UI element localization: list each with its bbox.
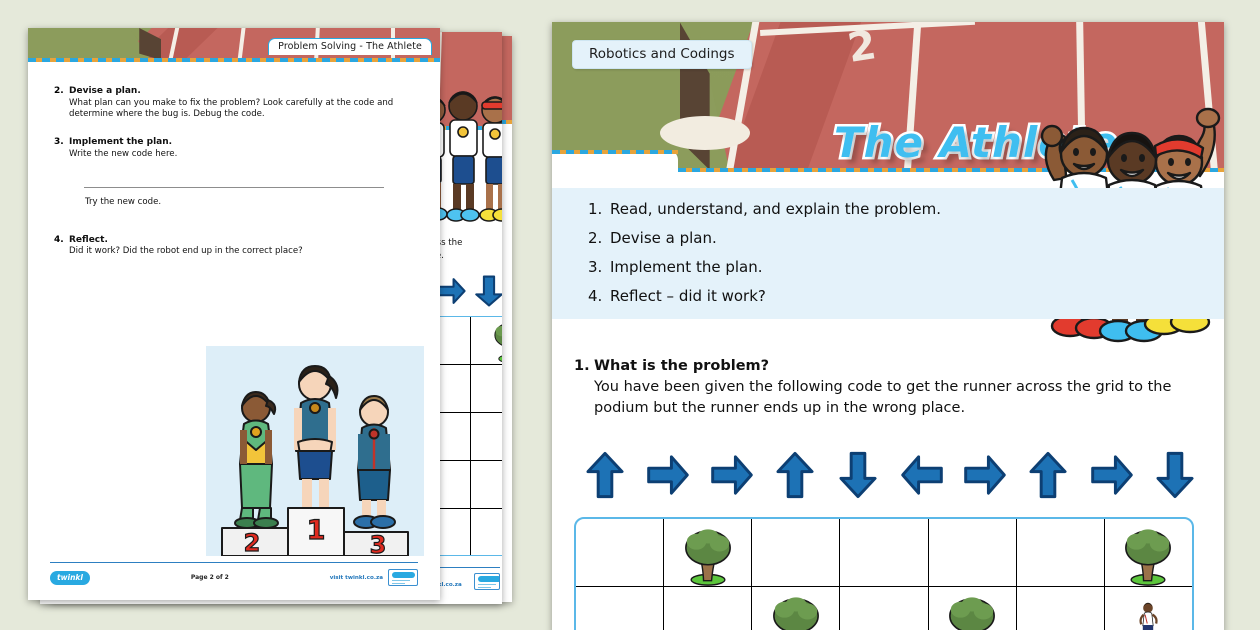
- left-step-2-body: What plan can you make to fix the proble…: [69, 98, 414, 122]
- podium-place-1: 1: [307, 515, 326, 546]
- step-1-number: 1.: [588, 200, 610, 218]
- grid-cell-r1c6[interactable]: [1017, 519, 1105, 586]
- right-page-sheet[interactable]: 2 Robotics and Codings The Athlete: [552, 22, 1224, 630]
- left-step-3-number: 3.: [54, 137, 69, 160]
- steps-panel: 1. Read, understand, and explain the pro…: [552, 188, 1224, 319]
- step-3-label: Implement the plan.: [610, 258, 763, 276]
- problem-number: 1.: [574, 358, 594, 374]
- step-3-number: 3.: [588, 258, 610, 276]
- grid-cell-r2c1[interactable]: [576, 587, 664, 630]
- page-title: The Athlete: [834, 118, 1118, 167]
- left-step-3-heading: Implement the plan.: [69, 137, 177, 147]
- left-step-2: 2. Devise a plan. What plan can you make…: [54, 86, 414, 121]
- left-page-content: 2. Devise a plan. What plan can you make…: [28, 86, 440, 269]
- grid-row-1: [576, 519, 1192, 587]
- twinkl-badge-back: [474, 573, 500, 590]
- visit-url[interactable]: visit twinkl.co.za: [330, 575, 383, 581]
- answer-write-line: [84, 187, 384, 188]
- podium-illustration: 2 1 3: [206, 346, 424, 556]
- problem-heading: What is the problem?: [594, 358, 769, 374]
- grid-cell-r2c4[interactable]: [840, 587, 928, 630]
- left-step-4-heading: Reflect.: [69, 235, 303, 245]
- left-step-4-body: Did it work? Did the robot end up in the…: [69, 246, 303, 258]
- coding-grid[interactable]: [574, 517, 1194, 630]
- tree-icon: [768, 592, 824, 630]
- left-step-3-body: Write the new code here.: [69, 149, 177, 161]
- page-number: Page 2 of 2: [191, 574, 229, 581]
- step-4-number: 4.: [588, 287, 610, 305]
- runner-icon: [1136, 602, 1160, 630]
- tree-icon: [944, 592, 1000, 630]
- tree-icon: [490, 318, 502, 364]
- arrow-right-icon[interactable]: [1089, 450, 1135, 500]
- left-page-sheet[interactable]: Problem Solving - The Athlete 2. Devise …: [28, 28, 440, 600]
- left-step-2-number: 2.: [54, 86, 69, 121]
- step-item-2: 2. Devise a plan.: [588, 229, 1224, 247]
- left-step-3: 3. Implement the plan. Write the new cod…: [54, 137, 414, 160]
- podium-place-2: 2: [244, 529, 261, 556]
- grid-cell-r2c6[interactable]: [1017, 587, 1105, 630]
- right-page-tab[interactable]: Robotics and Codings: [572, 40, 752, 69]
- grid-cell-r2c3[interactable]: [752, 587, 840, 630]
- step-2-label: Devise a plan.: [610, 229, 717, 247]
- grid-cell-r1c3[interactable]: [752, 519, 840, 586]
- tree-icon: [1120, 524, 1176, 586]
- grid-row-2: [576, 587, 1192, 630]
- podium-svg: 2 1 3: [206, 346, 424, 556]
- podium-place-3: 3: [370, 531, 387, 556]
- title-white-notch: [552, 150, 678, 186]
- step-item-3: 3. Implement the plan.: [588, 258, 1224, 276]
- left-step-2-heading: Devise a plan.: [69, 86, 414, 96]
- grid-cell-r2c2[interactable]: [664, 587, 752, 630]
- left-page-footer: twinkl Page 2 of 2 visit twinkl.co.za: [28, 562, 440, 586]
- twinkl-badge: [388, 569, 418, 586]
- problem-heading-row: 1. What is the problem?: [574, 358, 1214, 374]
- arrow-right-icon[interactable]: [645, 450, 691, 500]
- twinkl-logo[interactable]: twinkl: [50, 571, 90, 585]
- code-sequence: [582, 450, 1198, 500]
- step-4-label: Reflect – did it work?: [610, 287, 766, 305]
- grid-cell-r2c7[interactable]: [1105, 587, 1192, 630]
- problem-body: You have been given the following code t…: [594, 377, 1214, 419]
- runner-icon: [502, 374, 503, 412]
- arrow-up-icon[interactable]: [1025, 450, 1071, 500]
- arrow-up-icon[interactable]: [772, 450, 818, 500]
- arrow-right-icon[interactable]: [962, 450, 1008, 500]
- grid-cell-r1c1[interactable]: [576, 519, 664, 586]
- grid-cell-r2c5[interactable]: [929, 587, 1017, 630]
- try-new-code-label: Try the new code.: [85, 197, 414, 207]
- grid-cell-r1c7[interactable]: [1105, 519, 1192, 586]
- grid-cell-r1c2[interactable]: [664, 519, 752, 586]
- step-item-4: 4. Reflect – did it work?: [588, 287, 1224, 305]
- arrow-down-icon[interactable]: [835, 450, 881, 500]
- step-item-1: 1. Read, understand, and explain the pro…: [588, 200, 1224, 218]
- back-sheet-grid: [432, 316, 502, 556]
- grid-cell-r1c5[interactable]: [929, 519, 1017, 586]
- problem-section: 1. What is the problem? You have been gi…: [574, 358, 1214, 419]
- left-step-4-number: 4.: [54, 235, 69, 258]
- arrow-down-icon[interactable]: [1152, 450, 1198, 500]
- arrow-right-icon[interactable]: [709, 450, 755, 500]
- left-step-4: 4. Reflect. Did it work? Did the robot e…: [54, 235, 414, 258]
- arrow-down-icon-back: [472, 274, 502, 308]
- arrow-left-icon[interactable]: [899, 450, 945, 500]
- grid-cell-r1c4[interactable]: [840, 519, 928, 586]
- step-1-label: Read, understand, and explain the proble…: [610, 200, 941, 218]
- step-2-number: 2.: [588, 229, 610, 247]
- arrow-up-icon[interactable]: [582, 450, 628, 500]
- tree-icon: [680, 524, 736, 586]
- left-page-tab[interactable]: Problem Solving - The Athlete: [268, 38, 432, 55]
